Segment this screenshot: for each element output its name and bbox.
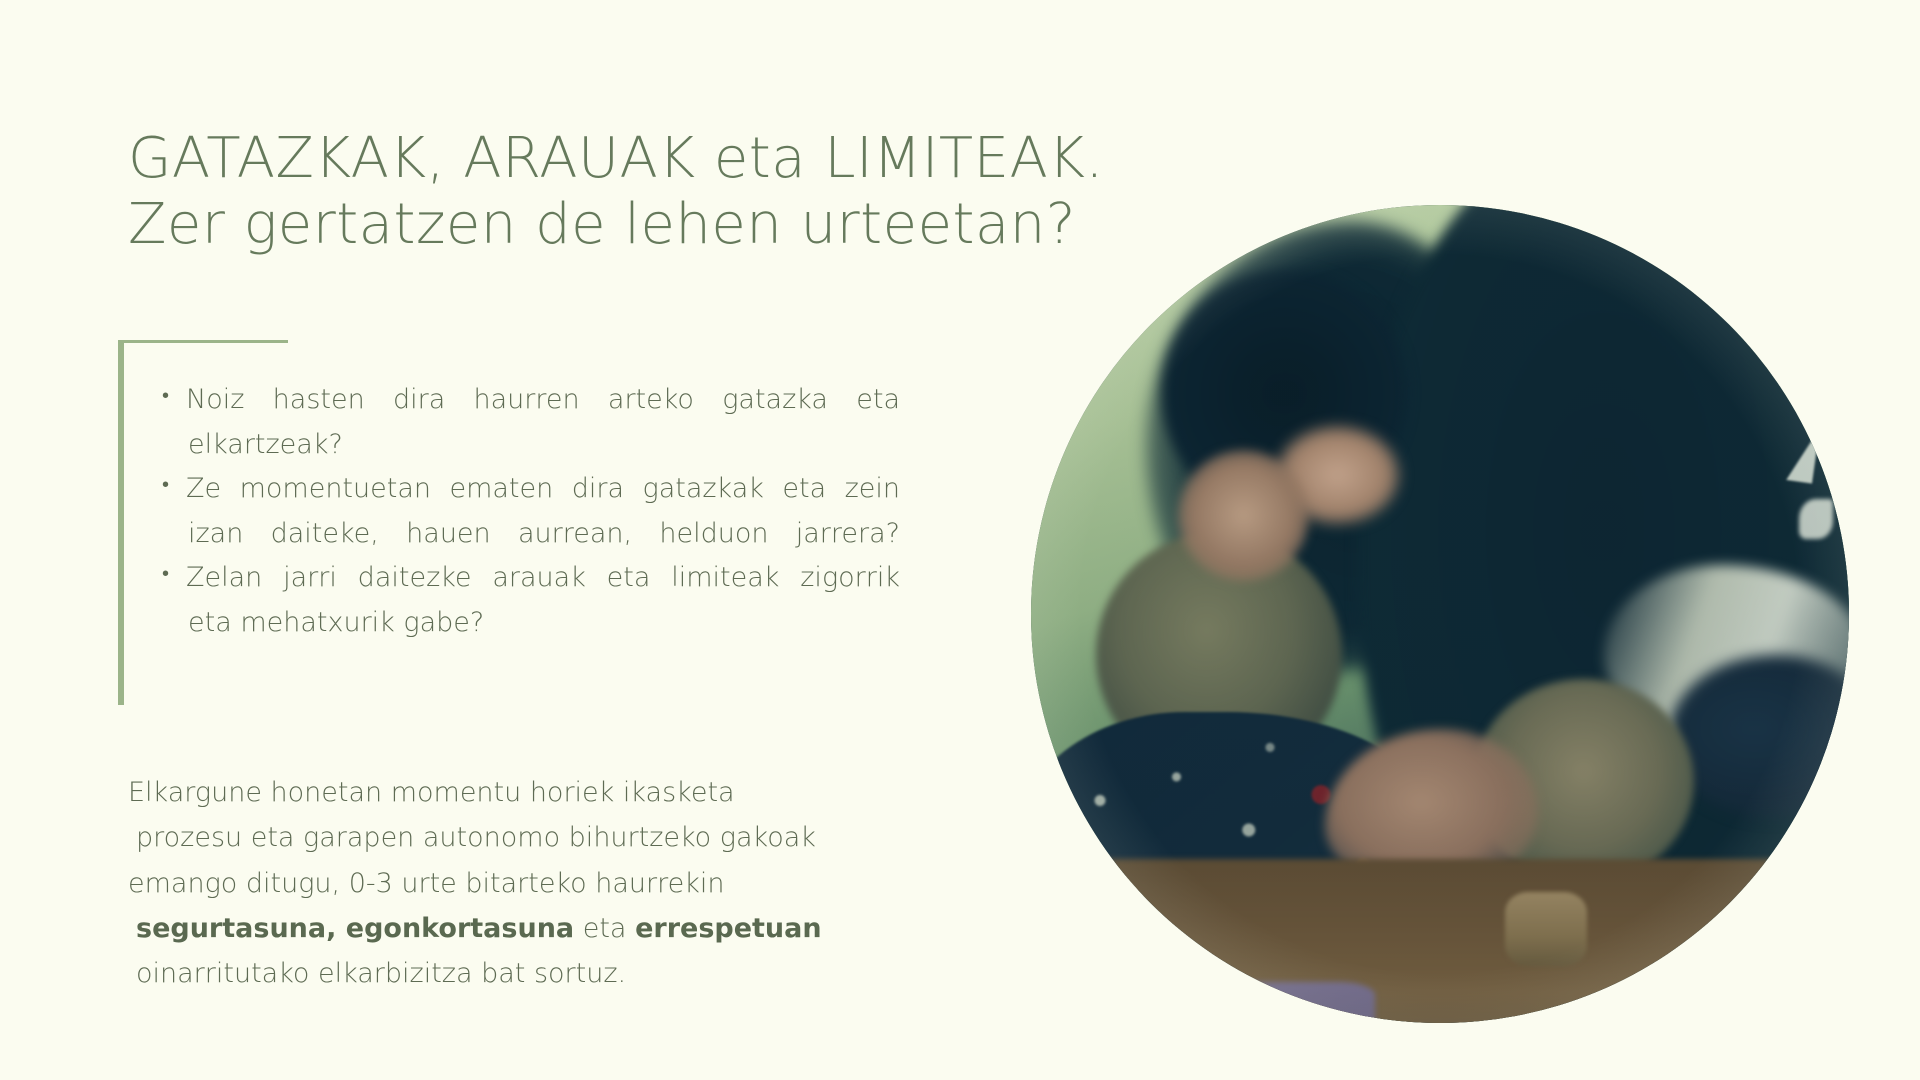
bullet-3-line-2: eta mehatxurik gabe? xyxy=(186,601,900,646)
paragraph-line-3: emango ditugu, 0-3 urte bitarteko haurre… xyxy=(128,861,888,906)
body-paragraph: Elkargune honetan momentu horiek ikasket… xyxy=(128,770,888,997)
paragraph-line-2: prozesu eta garapen autonomo bihurtzeko … xyxy=(128,815,888,860)
slide-canvas: GATAZKAK, ARAUAK eta LIMITEAK. Zer gerta… xyxy=(0,0,1920,1080)
photo-vignette xyxy=(1031,205,1849,1023)
bullet-3-line-1: Zelan jarri daitezke arauak eta limiteak… xyxy=(186,556,900,601)
bracket-top-rule xyxy=(118,340,288,343)
bullet-1-line-2: elkartzeak? xyxy=(186,423,900,468)
bullet-2-line-1: Ze momentuetan ematen dira gatazkak eta … xyxy=(186,467,900,512)
paragraph-line-1: Elkargune honetan momentu horiek ikasket… xyxy=(128,770,888,815)
list-item: Noiz hasten dira haurren arteko gatazka … xyxy=(160,378,900,467)
list-item: Ze momentuetan ematen dira gatazkak eta … xyxy=(160,467,900,556)
bullet-1-line-1: Noiz hasten dira haurren arteko gatazka … xyxy=(186,378,900,423)
question-list: Noiz hasten dira haurren arteko gatazka … xyxy=(160,378,900,645)
paragraph-bold-b: errespetuan xyxy=(635,913,822,944)
title-line-1: GATAZKAK, ARAUAK eta LIMITEAK. xyxy=(128,126,1228,192)
bullet-2-line-2: izan daiteke, hauen aurrean, helduon jar… xyxy=(186,512,900,557)
list-item: Zelan jarri daitezke arauak eta limiteak… xyxy=(160,556,900,645)
circular-photo xyxy=(1031,205,1849,1023)
paragraph-bold-a: segurtasuna, egonkortasuna xyxy=(136,913,574,944)
paragraph-line-5: oinarritutako elkarbizitza bat sortuz. xyxy=(128,951,888,996)
paragraph-line-4-mid: eta xyxy=(574,913,635,944)
bracket-left-bar xyxy=(118,340,124,705)
paragraph-line-4: segurtasuna, egonkortasuna eta errespetu… xyxy=(128,906,888,951)
